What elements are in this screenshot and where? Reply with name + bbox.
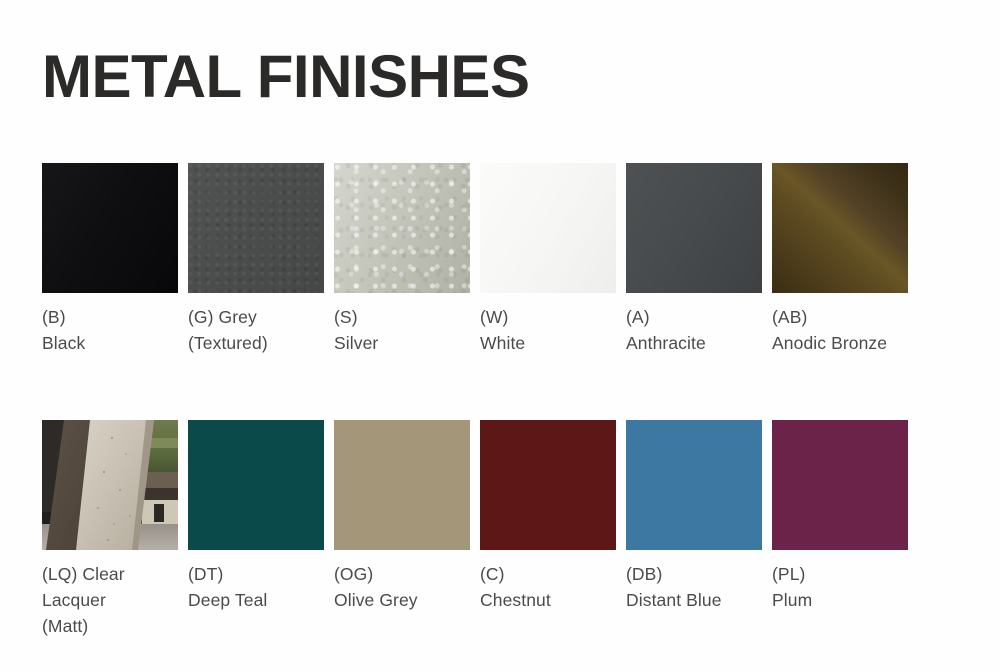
swatch-color-distant-blue[interactable] <box>626 420 762 550</box>
swatch-color-grey-textured[interactable] <box>188 163 324 293</box>
swatch-label-clear-lacquer: (LQ) Clear Lacquer (Matt) <box>42 561 178 639</box>
swatch-row-2: (LQ) Clear Lacquer (Matt) (DT) Deep Teal… <box>42 420 908 639</box>
swatch-cell-black[interactable]: (B) Black <box>42 163 178 356</box>
swatch-cell-anodic-bronze[interactable]: (AB) Anodic Bronze <box>772 163 908 356</box>
swatch-cell-anthracite[interactable]: (A) Anthracite <box>626 163 762 356</box>
swatch-cell-white[interactable]: (W) White <box>480 163 616 356</box>
swatch-row-1: (B) Black (G) Grey (Textured) (S) Silver… <box>42 163 908 356</box>
metal-finishes-page: METAL FINISHES (B) Black (G) Grey (Textu… <box>0 0 1000 672</box>
swatch-color-chestnut[interactable] <box>480 420 616 550</box>
swatch-photo-clear-lacquer[interactable] <box>42 420 178 550</box>
swatch-label-anodic-bronze: (AB) Anodic Bronze <box>772 304 908 356</box>
swatch-color-anodic-bronze[interactable] <box>772 163 908 293</box>
swatch-label-grey-textured: (G) Grey (Textured) <box>188 304 324 356</box>
swatch-label-olive-grey: (OG) Olive Grey <box>334 561 470 613</box>
swatch-label-plum: (PL) Plum <box>772 561 908 613</box>
swatch-color-silver[interactable] <box>334 163 470 293</box>
swatch-color-deep-teal[interactable] <box>188 420 324 550</box>
swatch-label-distant-blue: (DB) Distant Blue <box>626 561 762 613</box>
swatch-cell-clear-lacquer[interactable]: (LQ) Clear Lacquer (Matt) <box>42 420 178 639</box>
page-title: METAL FINISHES <box>42 46 529 108</box>
swatch-color-black[interactable] <box>42 163 178 293</box>
swatch-cell-grey-textured[interactable]: (G) Grey (Textured) <box>188 163 324 356</box>
swatch-color-olive-grey[interactable] <box>334 420 470 550</box>
swatch-cell-silver[interactable]: (S) Silver <box>334 163 470 356</box>
swatch-cell-chestnut[interactable]: (C) Chestnut <box>480 420 616 639</box>
swatch-color-anthracite[interactable] <box>626 163 762 293</box>
swatch-label-anthracite: (A) Anthracite <box>626 304 762 356</box>
swatch-label-deep-teal: (DT) Deep Teal <box>188 561 324 613</box>
swatch-cell-plum[interactable]: (PL) Plum <box>772 420 908 639</box>
swatch-cell-distant-blue[interactable]: (DB) Distant Blue <box>626 420 762 639</box>
swatch-label-silver: (S) Silver <box>334 304 470 356</box>
swatch-label-chestnut: (C) Chestnut <box>480 561 616 613</box>
swatch-color-plum[interactable] <box>772 420 908 550</box>
swatch-label-black: (B) Black <box>42 304 178 356</box>
swatch-cell-deep-teal[interactable]: (DT) Deep Teal <box>188 420 324 639</box>
swatch-cell-olive-grey[interactable]: (OG) Olive Grey <box>334 420 470 639</box>
swatch-label-white: (W) White <box>480 304 616 356</box>
swatch-color-white[interactable] <box>480 163 616 293</box>
